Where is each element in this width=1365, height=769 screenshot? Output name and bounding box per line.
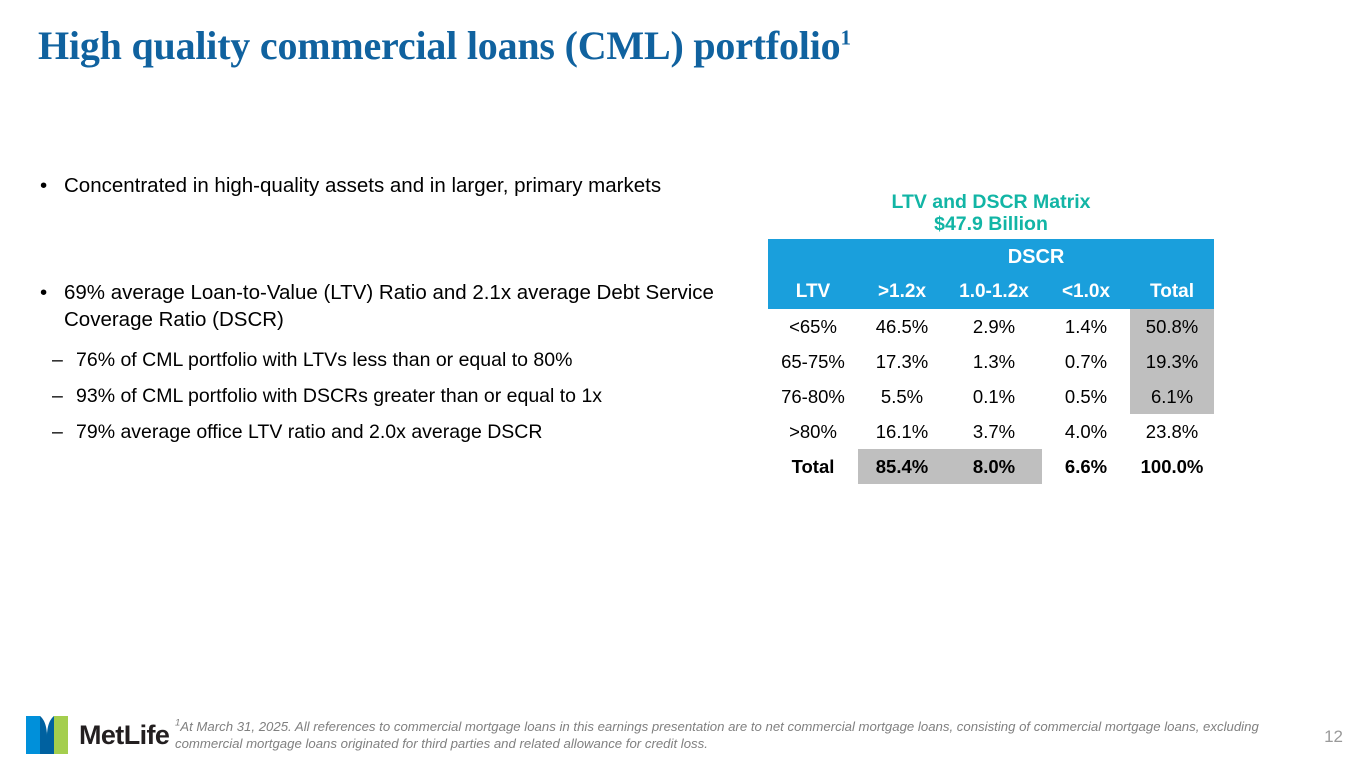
matrix-group-header-row: DSCR — [768, 239, 1214, 275]
bullet-text-1: Concentrated in high-quality assets and … — [64, 174, 661, 197]
sub-bullet-text-3: 79% average office LTV ratio and 2.0x av… — [76, 421, 542, 443]
matrix-cell: 4.0% — [1042, 414, 1130, 449]
table-row: 65-75% 17.3% 1.3% 0.7% 19.3% — [768, 344, 1214, 379]
sub-bullet-item-2: – 93% of CML portfolio with DSCRs greate… — [36, 383, 736, 409]
bullet-text-2: 69% average Loan-to-Value (LTV) Ratio an… — [64, 281, 714, 331]
matrix-cell: 0.1% — [946, 379, 1042, 414]
matrix-total-row: Total 85.4% 8.0% 6.6% 100.0% — [768, 449, 1214, 484]
table-row: >80% 16.1% 3.7% 4.0% 23.8% — [768, 414, 1214, 449]
matrix-row-label: >80% — [768, 414, 858, 449]
page-title-footnote-marker: 1 — [840, 26, 850, 50]
matrix-column-header-row: LTV >1.2x 1.0-1.2x <1.0x Total — [768, 275, 1214, 309]
page-title-text: High quality commercial loans (CML) port… — [38, 23, 840, 68]
matrix-caption: LTV and DSCR Matrix $47.9 Billion — [768, 191, 1214, 235]
bullet-item-1: • Concentrated in high-quality assets an… — [36, 172, 736, 199]
matrix-group-header-dscr: DSCR — [858, 239, 1214, 275]
matrix-total-cell: 8.0% — [946, 449, 1042, 484]
footnote: 1At March 31, 2025. All references to co… — [175, 719, 1280, 752]
matrix-caption-line-2: $47.9 Billion — [768, 213, 1214, 235]
matrix-row-label: 76-80% — [768, 379, 858, 414]
dash-marker-icon: – — [52, 383, 63, 409]
sub-bullet-item-3: – 79% average office LTV ratio and 2.0x … — [36, 419, 736, 445]
matrix-cell-total: 6.1% — [1130, 379, 1214, 414]
metlife-logo-mark-icon — [24, 713, 70, 757]
matrix-caption-line-1: LTV and DSCR Matrix — [768, 191, 1214, 213]
sub-bullet-item-1: – 76% of CML portfolio with LTVs less th… — [36, 347, 736, 373]
body-content: • Concentrated in high-quality assets an… — [36, 172, 736, 445]
matrix-total-cell: 6.6% — [1042, 449, 1130, 484]
matrix-col-header-10-12x: 1.0-1.2x — [946, 275, 1042, 309]
matrix-cell: 0.7% — [1042, 344, 1130, 379]
metlife-logo: MetLife — [24, 713, 169, 757]
matrix-grand-total: 100.0% — [1130, 449, 1214, 484]
matrix-col-header-ltv: LTV — [768, 275, 858, 309]
page-number: 12 — [1324, 727, 1343, 747]
table-row: 76-80% 5.5% 0.1% 0.5% 6.1% — [768, 379, 1214, 414]
matrix-cell: 17.3% — [858, 344, 946, 379]
spacer — [36, 199, 736, 279]
matrix-cell-total: 23.8% — [1130, 414, 1214, 449]
dash-marker-icon: – — [52, 347, 63, 373]
bullet-marker-icon: • — [40, 172, 47, 199]
matrix-table: DSCR LTV >1.2x 1.0-1.2x <1.0x Total <65%… — [768, 239, 1214, 484]
matrix-col-header-gt12x: >1.2x — [858, 275, 946, 309]
matrix-cell-total: 50.8% — [1130, 309, 1214, 344]
dash-marker-icon: – — [52, 419, 63, 445]
matrix-group-header-spacer — [768, 239, 858, 275]
matrix-row-label: 65-75% — [768, 344, 858, 379]
sub-bullet-text-1: 76% of CML portfolio with LTVs less than… — [76, 349, 572, 371]
matrix-cell: 1.3% — [946, 344, 1042, 379]
footnote-text: At March 31, 2025. All references to com… — [175, 719, 1259, 751]
matrix-cell: 46.5% — [858, 309, 946, 344]
matrix-col-header-lt10x: <1.0x — [1042, 275, 1130, 309]
matrix-cell: 16.1% — [858, 414, 946, 449]
page-title: High quality commercial loans (CML) port… — [38, 22, 851, 70]
matrix-cell: 3.7% — [946, 414, 1042, 449]
spacer — [36, 409, 736, 419]
bullet-item-2: • 69% average Loan-to-Value (LTV) Ratio … — [36, 279, 736, 333]
matrix-row-label-total: Total — [768, 449, 858, 484]
matrix-col-header-total: Total — [1130, 275, 1214, 309]
matrix-total-cell: 85.4% — [858, 449, 946, 484]
spacer — [36, 373, 736, 383]
sub-bullet-text-2: 93% of CML portfolio with DSCRs greater … — [76, 385, 602, 407]
matrix-row-label: <65% — [768, 309, 858, 344]
slide: High quality commercial loans (CML) port… — [0, 0, 1365, 769]
bullet-marker-icon: • — [40, 279, 47, 306]
ltv-dscr-matrix: LTV and DSCR Matrix $47.9 Billion DSCR L… — [768, 191, 1214, 484]
spacer — [36, 333, 736, 347]
matrix-cell: 2.9% — [946, 309, 1042, 344]
footer: MetLife 1At March 31, 2025. All referenc… — [0, 703, 1365, 769]
matrix-table-body: DSCR LTV >1.2x 1.0-1.2x <1.0x Total <65%… — [768, 239, 1214, 484]
matrix-cell: 1.4% — [1042, 309, 1130, 344]
matrix-cell-total: 19.3% — [1130, 344, 1214, 379]
matrix-cell: 5.5% — [858, 379, 946, 414]
table-row: <65% 46.5% 2.9% 1.4% 50.8% — [768, 309, 1214, 344]
matrix-cell: 0.5% — [1042, 379, 1130, 414]
metlife-logo-text: MetLife — [79, 720, 169, 751]
